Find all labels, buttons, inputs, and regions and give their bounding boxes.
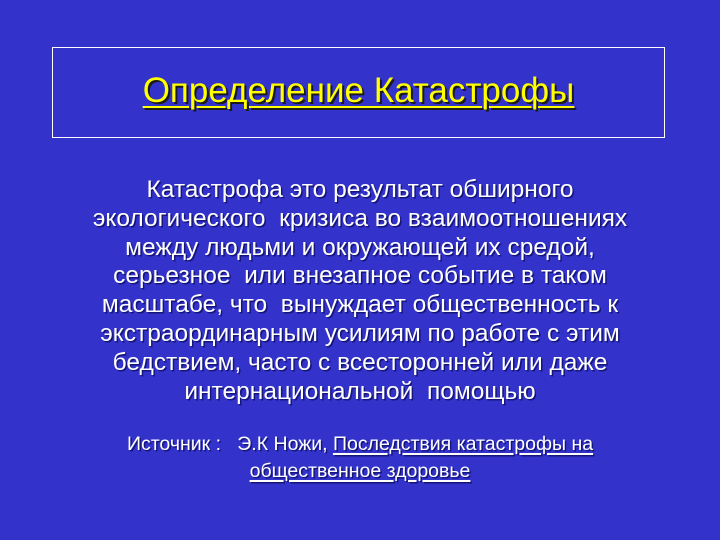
- title-placeholder-box: Определение Катастрофы: [52, 47, 665, 138]
- source-line-first: Источник : Э.К Ножи, Последствия катастр…: [36, 431, 684, 458]
- page-title: Определение Катастрофы: [143, 73, 575, 112]
- body-line: экстраординарным усилиям по работе с эти…: [36, 320, 684, 349]
- source-work-title-part2: общественное здоровье: [250, 460, 471, 482]
- slide-canvas: Определение Катастрофы Катастрофа это ре…: [0, 0, 720, 540]
- source-work-title-part1: Последствия катастрофы на: [333, 433, 593, 455]
- body-line: экологического кризиса во взаимоотношени…: [36, 205, 684, 234]
- body-line: масштабе, что вынуждает общественность к: [36, 291, 684, 320]
- source-label-and-author: Источник : Э.К Ножи,: [127, 433, 333, 455]
- body-line: Катастрофа это результат обширного: [36, 176, 684, 205]
- body-line: интернациональной помощью: [36, 378, 684, 407]
- source-citation-block: Источник : Э.К Ножи, Последствия катастр…: [36, 431, 684, 485]
- body-line: между людьми и окружающей их средой,: [36, 234, 684, 263]
- source-line-second: общественное здоровье: [36, 458, 684, 485]
- body-text-block: Катастрофа это результат обширного эколо…: [36, 176, 684, 406]
- body-line: серьезное или внезапное событие в таком: [36, 262, 684, 291]
- body-line: бедствием, часто с всесторонней или даже: [36, 349, 684, 378]
